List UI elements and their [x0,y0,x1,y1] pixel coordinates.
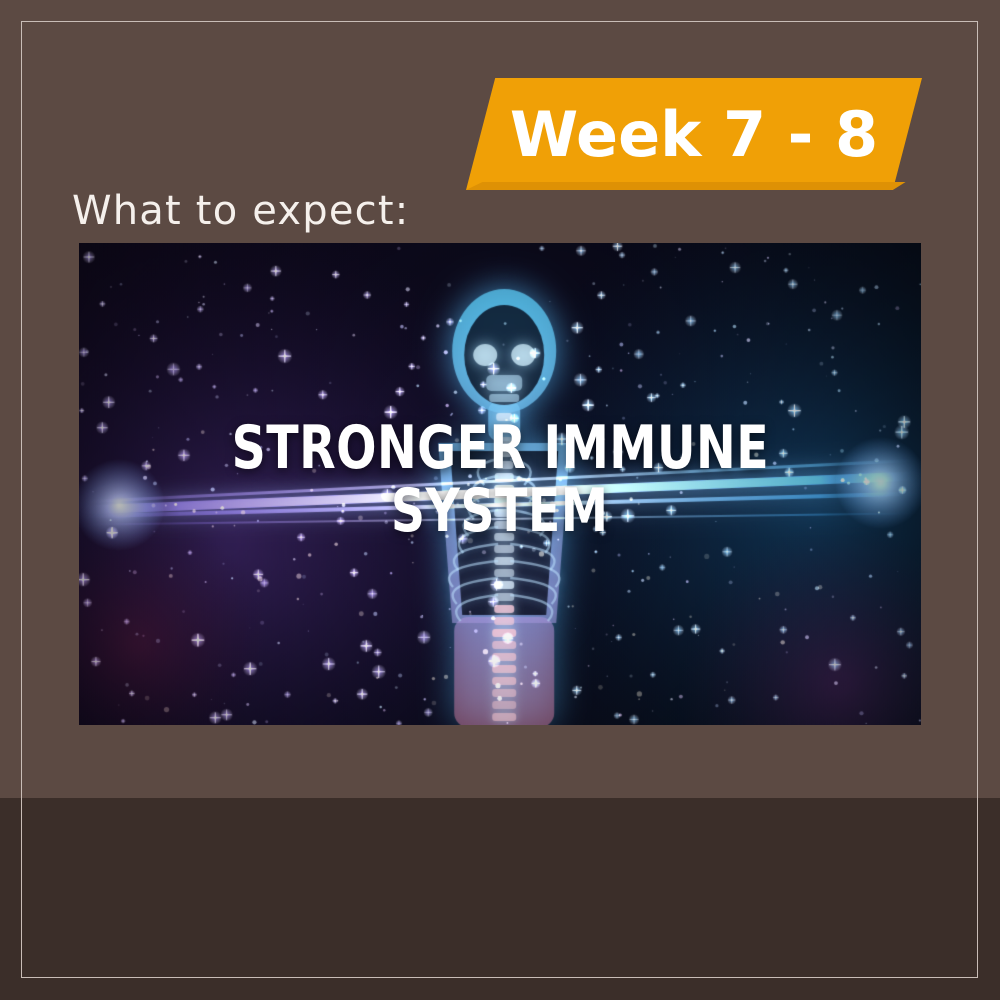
feature-image: STRONGER IMMUNE SYSTEM [79,243,921,725]
immune-system-illustration [79,243,921,725]
week-timeline: W1W2W3W4W5W6W7W8 [0,798,1000,1000]
page-title: What to expect: [72,188,409,234]
week-banner-label: Week 7 - 8 [466,78,922,190]
